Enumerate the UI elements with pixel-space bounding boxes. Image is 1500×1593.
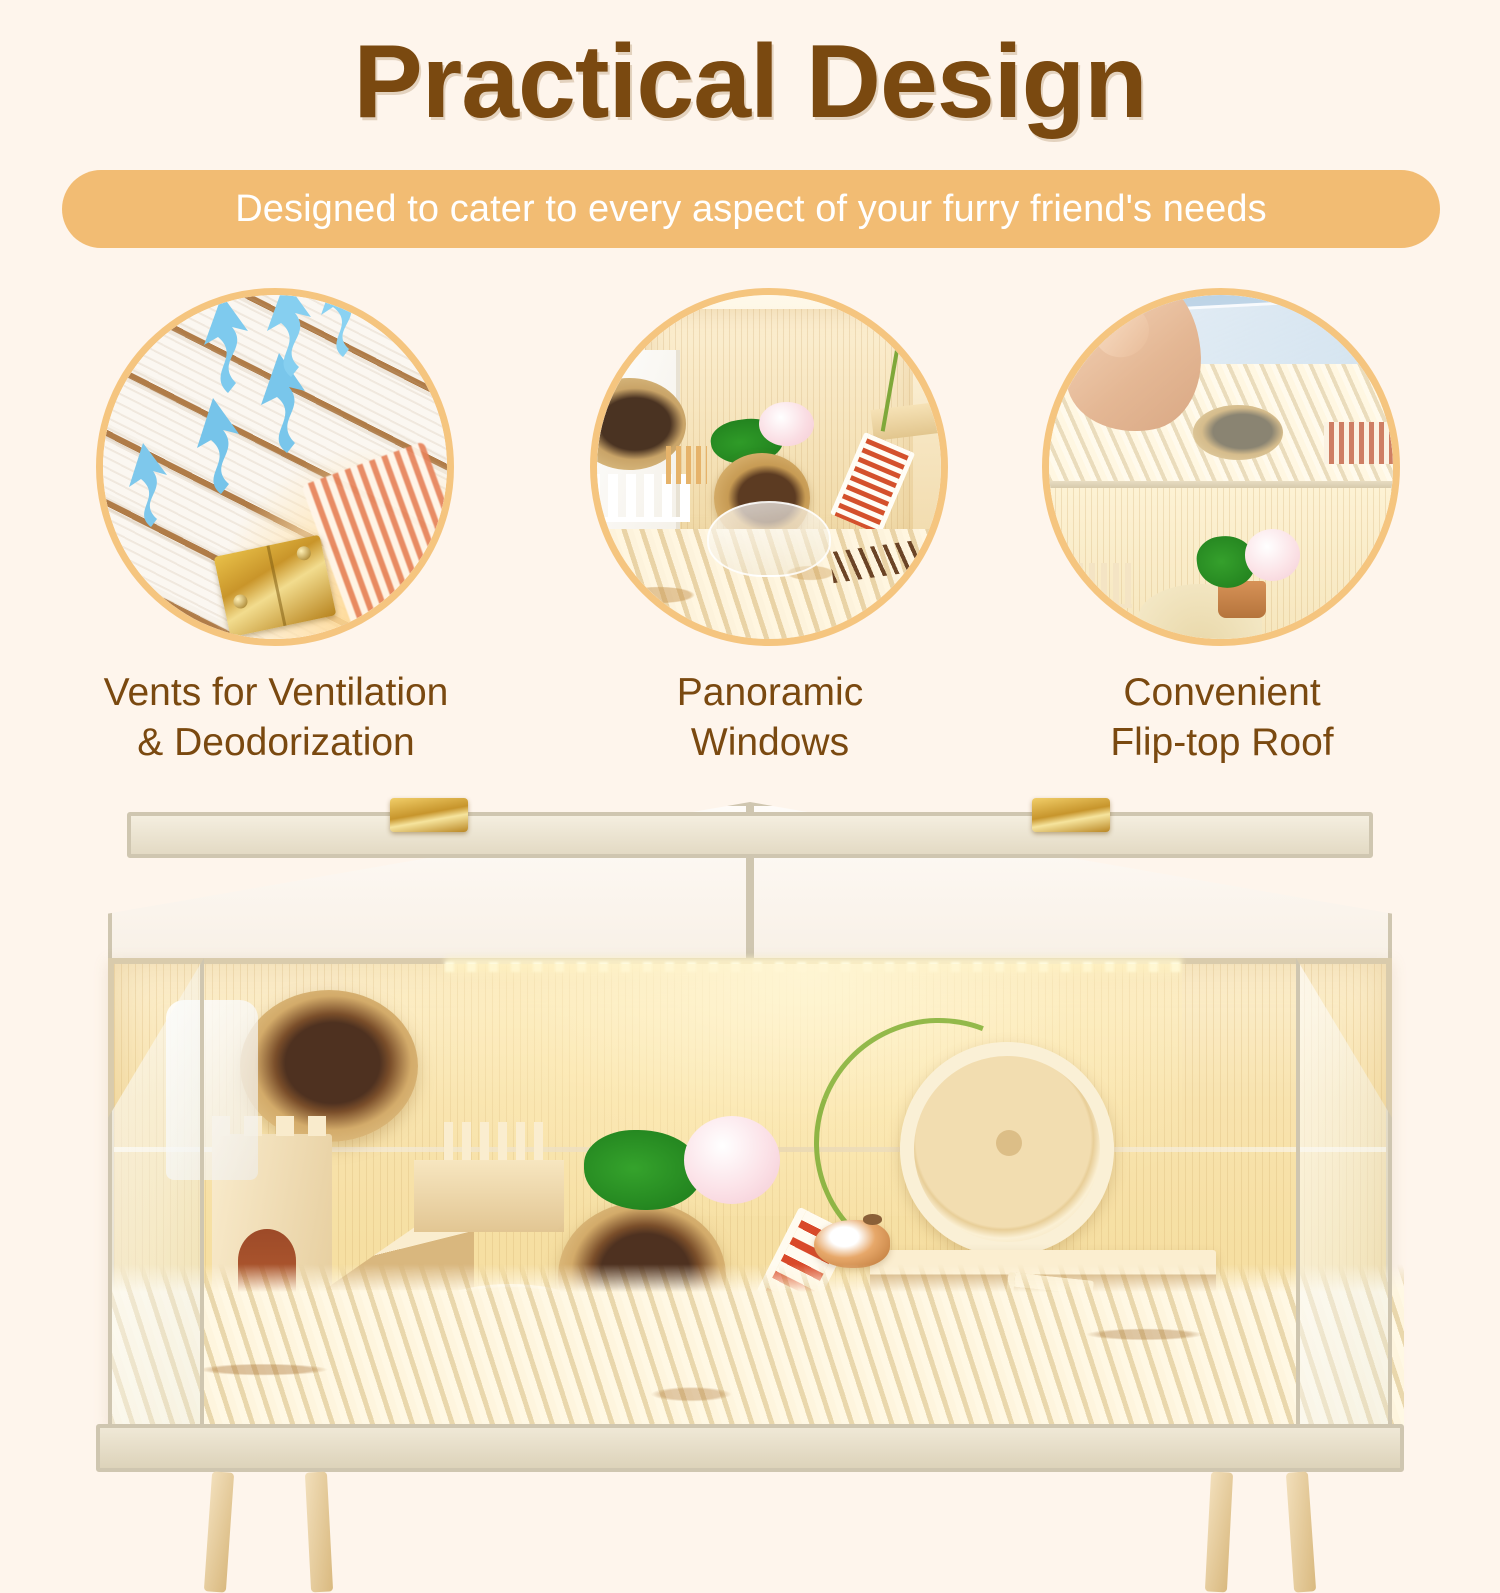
feature-card-flip-top-roof: Convenient Flip-top Roof <box>1042 288 1402 768</box>
cage-leg <box>204 1471 234 1592</box>
feature-image-ventilation <box>96 288 454 646</box>
small-fence-icon <box>666 446 707 484</box>
feature-label-ventilation: Vents for Ventilation & Deodorization <box>96 668 456 768</box>
airflow-arrow-icon <box>198 295 254 397</box>
wheel-hub <box>996 1130 1022 1156</box>
airflow-arrow-icon <box>189 390 245 498</box>
flip-top-roof[interactable] <box>108 802 1392 982</box>
picket-fence-icon <box>444 1122 544 1160</box>
feature-label-flip-top-roof: Convenient Flip-top Roof <box>1042 668 1402 768</box>
subtitle-text: Designed to cater to every aspect of you… <box>235 188 1267 231</box>
woven-nest-icon <box>1193 405 1282 460</box>
brass-hinge-icon <box>390 798 468 832</box>
airflow-arrow-icon <box>261 295 315 381</box>
clear-dome-icon <box>707 501 831 577</box>
wood-shaving-bedding <box>108 1264 1404 1440</box>
wood-platform-left <box>414 1160 564 1232</box>
product-image <box>0 788 1500 1500</box>
subtitle-banner: Designed to cater to every aspect of you… <box>62 170 1440 248</box>
feature-row: Vents for Ventilation & Deodorization <box>0 288 1500 788</box>
hamster-on-platform <box>814 1220 890 1268</box>
cage-base-frame <box>96 1424 1404 1472</box>
cage-leg <box>1286 1471 1316 1592</box>
cage-enclosure <box>108 958 1392 1428</box>
flower-icon <box>1245 529 1300 581</box>
roof-top-slab <box>127 812 1372 858</box>
pink-flower-icon <box>684 1116 780 1204</box>
small-fence-icon <box>1077 563 1132 608</box>
cage-leg <box>1205 1472 1233 1593</box>
feature-card-panoramic-windows: Panoramic Windows <box>590 288 950 768</box>
feature-image-flip-top-roof <box>1042 288 1400 646</box>
page-title: Practical Design <box>0 26 1500 138</box>
hamster-ear <box>863 1214 883 1225</box>
brass-hinge-icon <box>1032 798 1110 832</box>
wooden-exercise-wheel-icon <box>900 1042 1114 1256</box>
hinge-pin <box>266 545 286 626</box>
flower-icon <box>759 402 814 447</box>
airflow-arrow-icon <box>121 435 173 531</box>
airflow-arrow-icon <box>315 295 365 361</box>
feature-image-panoramic-windows <box>590 288 948 646</box>
feature-label-panoramic-windows: Panoramic Windows <box>590 668 950 768</box>
cage-leg <box>305 1472 333 1593</box>
feature-card-ventilation: Vents for Ventilation & Deodorization <box>96 288 456 768</box>
striped-ladder-icon <box>1324 422 1393 463</box>
